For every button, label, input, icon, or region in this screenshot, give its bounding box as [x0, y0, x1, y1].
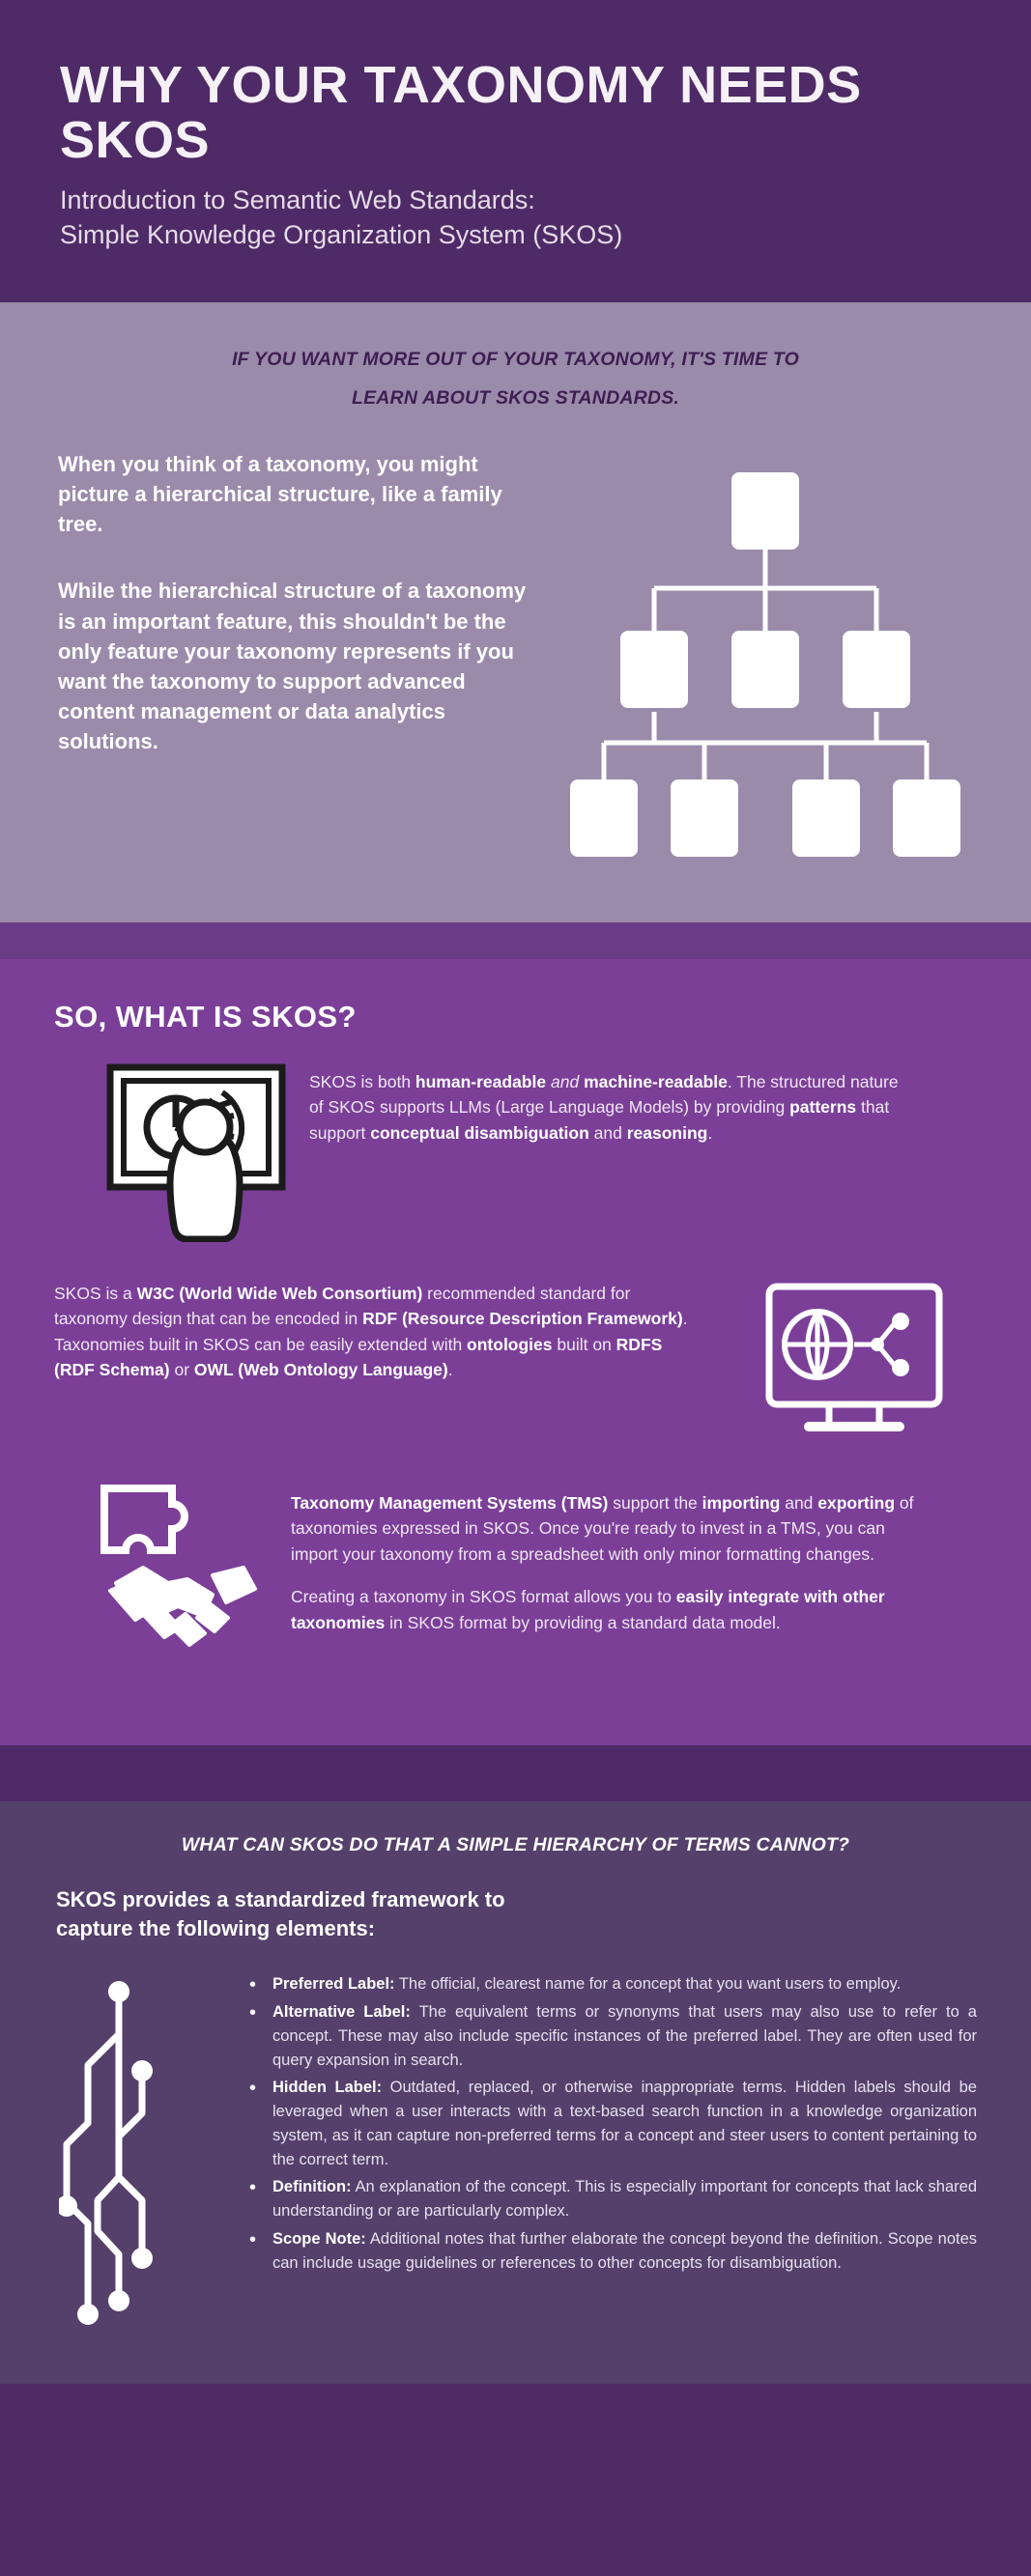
elements-lead-line-1: SKOS provides a standardized framework t… [56, 1885, 987, 1914]
footer-band [0, 2384, 1031, 2451]
divider-band-1 [0, 922, 1031, 959]
list-item: Preferred Label: The official, clearest … [247, 1972, 977, 1996]
circuit-board-svg [59, 1978, 165, 2345]
intro-band: IF YOU WANT MORE OUT OF YOUR TAXONOMY, I… [0, 302, 1031, 922]
hierarchy-tree-diagram [558, 449, 973, 868]
skos-block-human-machine-readable: SKOS is both human-readable and machine-… [54, 1063, 977, 1242]
intro-paragraph-2: While the hierarchical structure of a ta… [58, 576, 530, 756]
elements-kicker: WHAT CAN SKOS DO THAT A SIMPLE HIERARCHY… [44, 1834, 987, 1856]
subtitle-line-1: Introduction to Semantic Web Standards: [60, 184, 971, 217]
header-band: WHY YOUR TAXONOMY NEEDS SKOS Introductio… [0, 0, 1031, 302]
skos-block-2-text: SKOS is a W3C (World Wide Web Consortium… [54, 1281, 696, 1383]
presentation-person-svg [100, 1063, 294, 1242]
list-item: Alternative Label: The equivalent terms … [247, 2000, 977, 2072]
skos-block-tms: Taxonomy Management Systems (TMS) suppor… [54, 1483, 977, 1656]
hierarchy-tree-icon [558, 453, 973, 868]
presentation-screen-person-icon [54, 1063, 296, 1242]
elements-band: WHAT CAN SKOS DO THAT A SIMPLE HIERARCHY… [0, 1801, 1031, 2385]
intro-paragraph-1: When you think of a taxonomy, you might … [58, 449, 530, 540]
skos-block-2-copy: SKOS is a W3C (World Wide Web Consortium… [54, 1275, 730, 1383]
circuit-board-icon [44, 1972, 180, 2345]
list-item: Scope Note: Additional notes that furthe… [247, 2227, 977, 2276]
infographic-page: WHY YOUR TAXONOMY NEEDS SKOS Introductio… [0, 0, 1031, 2576]
intro-kicker-line-1: IF YOU WANT MORE OUT OF YOUR TAXONOMY, I… [97, 341, 934, 380]
divider-band-2 [0, 1745, 1031, 1801]
puzzle-handshake-svg [99, 1483, 268, 1656]
elements-lead-line-2: capture the following elements: [56, 1914, 987, 1943]
intro-kicker-line-2: LEARN ABOUT SKOS STANDARDS. [97, 380, 934, 418]
skos-section-heading: SO, WHAT IS SKOS? [54, 1000, 977, 1034]
skos-block-w3c-rdf: SKOS is a W3C (World Wide Web Consortium… [54, 1275, 977, 1450]
page-subtitle: Introduction to Semantic Web Standards: … [0, 168, 1031, 251]
skos-block-1-text: SKOS is both human-readable and machine-… [309, 1069, 900, 1146]
skos-block-3-text-2: Creating a taxonomy in SKOS format allow… [291, 1584, 932, 1635]
list-item: Definition: An explanation of the concep… [247, 2175, 977, 2223]
skos-block-3-text-1: Taxonomy Management Systems (TMS) suppor… [291, 1490, 932, 1568]
globe-monitor-network-icon [730, 1275, 977, 1450]
skos-block-1-copy: SKOS is both human-readable and machine-… [296, 1063, 977, 1146]
page-title: WHY YOUR TAXONOMY NEEDS SKOS [0, 58, 1031, 168]
subtitle-line-2: Simple Knowledge Organization System (SK… [60, 218, 971, 252]
intro-kicker: IF YOU WANT MORE OUT OF YOUR TAXONOMY, I… [58, 341, 973, 418]
skos-block-3-copy: Taxonomy Management Systems (TMS) suppor… [272, 1483, 977, 1636]
globe-monitor-svg [758, 1281, 951, 1450]
puzzle-handshake-icon [54, 1483, 272, 1656]
skos-elements-list: Preferred Label: The official, clearest … [180, 1972, 987, 2345]
list-item: Hidden Label: Outdated, replaced, or oth… [247, 2076, 977, 2171]
elements-lead: SKOS provides a standardized framework t… [44, 1885, 987, 1944]
intro-text-column: When you think of a taxonomy, you might … [58, 449, 558, 868]
skos-band: SO, WHAT IS SKOS? [0, 959, 1031, 1745]
